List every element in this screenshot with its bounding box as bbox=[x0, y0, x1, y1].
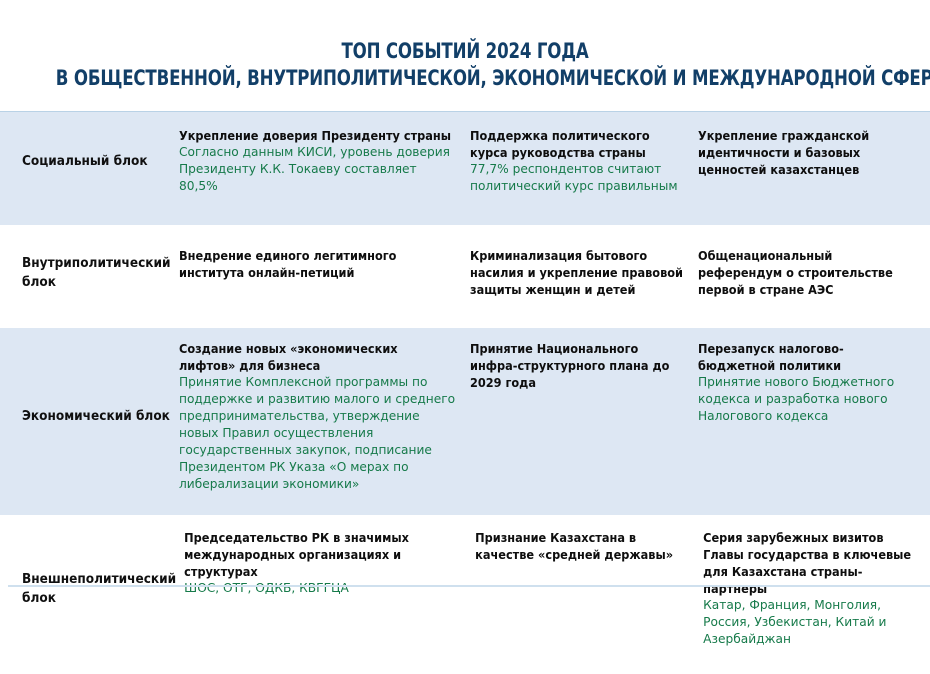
cell-heading: Серия зарубежных визитов Главы государст… bbox=[703, 529, 914, 597]
cell-heading: Председательство РК в значимых междунаро… bbox=[184, 529, 461, 580]
cell-detail: Принятие Комплексной программы по поддер… bbox=[179, 374, 456, 493]
cell-heading: Принятие Национального инфра-структурног… bbox=[470, 340, 684, 391]
table-cell: Принятие Национального инфра-структурног… bbox=[470, 340, 698, 391]
table-cell: Общенациональный референдум о строительс… bbox=[698, 247, 930, 298]
cell-detail: Катар, Франция, Монголия, Россия, Узбеки… bbox=[703, 597, 914, 648]
table-cell: Перезапуск налогово-бюджетной политики П… bbox=[698, 340, 930, 425]
infographic-page: ТОП СОБЫТИЙ 2024 ГОДА В ОБЩЕСТВЕННОЙ, ВН… bbox=[0, 0, 930, 620]
row-cells: Внедрение единого легитимного института … bbox=[179, 247, 930, 298]
table-cell: Серия зарубежных визитов Главы государст… bbox=[703, 529, 930, 648]
row-label-economy: Экономический блок bbox=[0, 340, 179, 493]
cell-heading: Перезапуск налогово-бюджетной политики bbox=[698, 340, 914, 374]
table-cell: Укрепление доверия Президенту страны Сог… bbox=[179, 127, 470, 195]
cell-heading: Признание Казахстана в качестве «средней… bbox=[475, 529, 689, 563]
table-row: Внешнеполитический блок Председательство… bbox=[0, 515, 930, 674]
table-cell: Создание новых «экономических лифтов» дл… bbox=[179, 340, 470, 493]
cell-heading: Создание новых «экономических лифтов» дл… bbox=[179, 340, 456, 374]
title-line-2: В ОБЩЕСТВЕННОЙ, ВНУТРИПОЛИТИЧЕСКОЙ, ЭКОН… bbox=[56, 64, 874, 92]
table-row: Внутриполитический блок Внедрение единог… bbox=[0, 225, 930, 328]
row-label-internal-politics: Внутриполитический блок bbox=[0, 247, 179, 298]
table-cell: Криминализация бытового насилия и укрепл… bbox=[470, 247, 698, 298]
cell-heading: Укрепление гражданской идентичности и ба… bbox=[698, 127, 914, 178]
cell-heading: Криминализация бытового насилия и укрепл… bbox=[470, 247, 684, 298]
row-label-social: Социальный блок bbox=[0, 127, 179, 195]
table-cell: Внедрение единого легитимного института … bbox=[179, 247, 470, 281]
title-line-1: ТОП СОБЫТИЙ 2024 ГОДА bbox=[56, 38, 874, 64]
events-table: Социальный блок Укрепление доверия Прези… bbox=[0, 111, 930, 674]
row-label-foreign-policy: Внешнеполитический блок bbox=[0, 529, 184, 648]
cell-heading: Общенациональный референдум о строительс… bbox=[698, 247, 914, 298]
row-cells: Председательство РК в значимых междунаро… bbox=[184, 529, 930, 648]
cell-detail: Согласно данным КИСИ, уровень доверия Пр… bbox=[179, 144, 456, 195]
cell-detail: 77,7% респондентов считают политический … bbox=[470, 161, 684, 195]
cell-detail: Принятие нового Бюджетного кодекса и раз… bbox=[698, 374, 914, 425]
table-row: Социальный блок Укрепление доверия Прези… bbox=[0, 112, 930, 225]
table-cell: Поддержка политического курса руководств… bbox=[470, 127, 698, 195]
row-cells: Создание новых «экономических лифтов» дл… bbox=[179, 340, 930, 493]
table-row: Экономический блок Создание новых «эконо… bbox=[0, 328, 930, 515]
row-cells: Укрепление доверия Президенту страны Сог… bbox=[179, 127, 930, 195]
table-cell: Признание Казахстана в качестве «средней… bbox=[475, 529, 703, 563]
bottom-divider bbox=[8, 585, 930, 587]
table-cell: Укрепление гражданской идентичности и ба… bbox=[698, 127, 930, 178]
cell-heading: Внедрение единого легитимного института … bbox=[179, 247, 456, 281]
page-title: ТОП СОБЫТИЙ 2024 ГОДА В ОБЩЕСТВЕННОЙ, ВН… bbox=[0, 0, 930, 92]
cell-heading: Укрепление доверия Президенту страны bbox=[179, 127, 456, 144]
cell-detail: ШОС, ОТГ, ОДКБ, КВГГЦА bbox=[184, 580, 461, 597]
table-cell: Председательство РК в значимых междунаро… bbox=[184, 529, 475, 597]
cell-heading: Поддержка политического курса руководств… bbox=[470, 127, 684, 161]
